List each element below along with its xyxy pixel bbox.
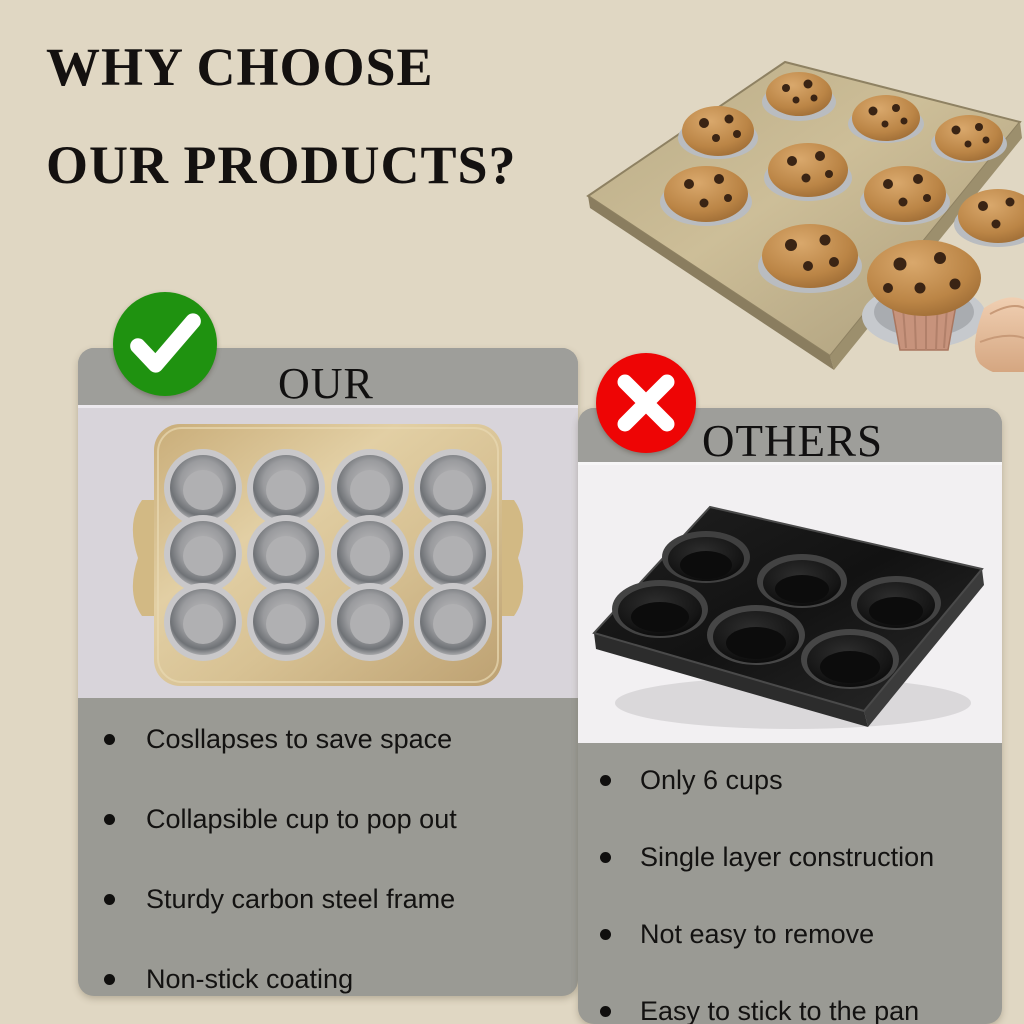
ours-product-image xyxy=(78,405,578,698)
ours-approved-badge xyxy=(113,292,217,396)
black-muffin-pan-illustration xyxy=(578,465,1002,743)
list-item: Only 6 cups xyxy=(578,765,1002,795)
comparison-panel-ours: OUR xyxy=(78,348,578,996)
bullet-icon xyxy=(104,894,115,905)
bullet-icon xyxy=(600,929,611,940)
comparison-panel-others: OTHERS xyxy=(578,408,1002,1024)
list-item: Sturdy carbon steel frame xyxy=(78,884,578,914)
page-title: WHY CHOOSE OUR PRODUCTS? xyxy=(46,18,586,214)
ours-title: OUR xyxy=(278,361,374,407)
page-title-line-1: WHY CHOOSE xyxy=(46,37,434,97)
ours-feature-label: Collapsible cup to pop out xyxy=(146,804,457,834)
page-title-line-2: OUR PRODUCTS? xyxy=(46,116,586,214)
bullet-icon xyxy=(104,734,115,745)
ours-feature-label: Sturdy carbon steel frame xyxy=(146,884,455,914)
bullet-icon xyxy=(104,814,115,825)
others-title: OTHERS xyxy=(702,418,883,464)
hero-illustration xyxy=(580,26,1024,372)
bullet-icon xyxy=(104,974,115,985)
ours-feature-label: Cosllapses to save space xyxy=(146,724,452,754)
others-feature-list: Only 6 cups Single layer construction No… xyxy=(578,765,1002,1024)
others-feature-label: Not easy to remove xyxy=(640,919,874,949)
others-feature-label: Single layer construction xyxy=(640,842,934,872)
check-icon xyxy=(113,292,217,396)
list-item: Collapsible cup to pop out xyxy=(78,804,578,834)
list-item: Single layer construction xyxy=(578,842,1002,872)
bullet-icon xyxy=(600,775,611,786)
ours-feature-list: Cosllapses to save space Collapsible cup… xyxy=(78,724,578,994)
list-item: Not easy to remove xyxy=(578,919,1002,949)
bullet-icon xyxy=(600,1006,611,1017)
list-item: Non-stick coating xyxy=(78,964,578,994)
others-feature-label: Easy to stick to the pan xyxy=(640,996,919,1024)
bullet-icon xyxy=(600,852,611,863)
list-item: Cosllapses to save space xyxy=(78,724,578,754)
cross-icon xyxy=(596,353,696,453)
others-rejected-badge xyxy=(596,353,696,453)
others-feature-label: Only 6 cups xyxy=(640,765,783,795)
ours-feature-label: Non-stick coating xyxy=(146,964,353,994)
infographic-canvas: WHY CHOOSE OUR PRODUCTS? xyxy=(0,0,1024,1024)
others-product-image xyxy=(578,462,1002,743)
list-item: Easy to stick to the pan xyxy=(578,996,1002,1024)
hero-image xyxy=(580,26,1024,372)
gold-muffin-pan-illustration xyxy=(78,408,578,698)
